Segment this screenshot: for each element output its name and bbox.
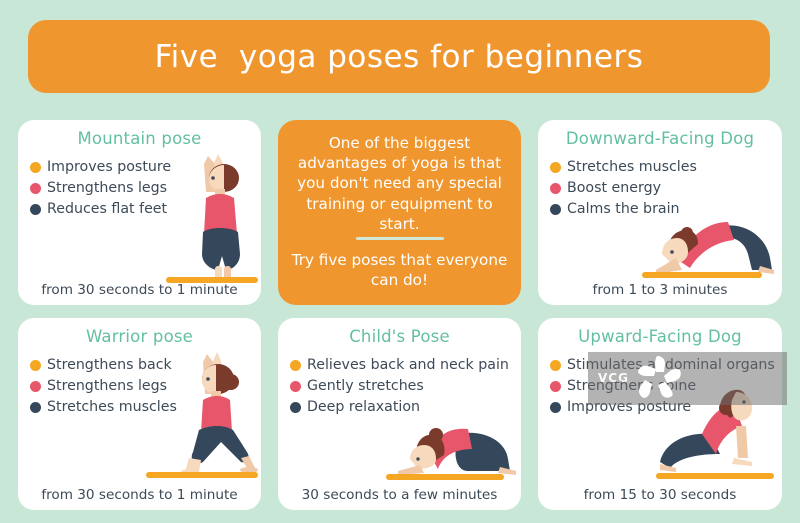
benefit-label: Strengthens legs [47, 181, 167, 196]
bullet-dot-icon [550, 402, 561, 413]
childs-pose-illustration [396, 423, 521, 479]
pose-card-mountain-pose: Mountain pose Improves post [18, 120, 261, 305]
downward-facing-dog-illustration [648, 214, 778, 278]
benefit-label: Calms the brain [567, 202, 680, 217]
watermark-flower-icon [636, 354, 682, 400]
benefit-label: Deep relaxation [307, 400, 420, 415]
benefit-label: Strengthens back [47, 358, 172, 373]
pose-duration: from 1 to 3 minutes [538, 282, 782, 298]
benefit-item: Gently stretches [290, 379, 509, 394]
page-title: Five yoga poses for beginners [155, 39, 644, 75]
benefit-label: Relieves back and neck pain [307, 358, 509, 373]
highlight-quote: One of the biggest advantages of yoga is… [288, 133, 511, 234]
pose-title: Child's Pose [278, 327, 521, 346]
bullet-dot-icon [550, 204, 561, 215]
benefit-label: Strengthens legs [47, 379, 167, 394]
bullet-dot-icon [550, 381, 561, 392]
benefit-list: Improves posture Strengthens legs Reduce… [30, 160, 171, 223]
pose-duration: from 30 seconds to 1 minute [18, 282, 261, 298]
pose-title: Downward-Facing Dog [538, 129, 782, 148]
yoga-mat [642, 272, 762, 278]
bullet-dot-icon [550, 183, 561, 194]
pose-title: Upward-Facing Dog [538, 327, 782, 346]
header-banner: Five yoga poses for beginners [28, 20, 770, 93]
benefit-label: Improves posture [47, 160, 171, 175]
watermark-overlay: VCG [588, 352, 787, 405]
benefit-item: Boost energy [550, 181, 697, 196]
watermark-label: VCG [598, 371, 629, 385]
bullet-dot-icon [30, 204, 41, 215]
benefit-item: Strengthens legs [30, 181, 171, 196]
infographic-canvas: Five yoga poses for beginners Mountain p… [0, 0, 800, 523]
bullet-dot-icon [290, 402, 301, 413]
yoga-mat [146, 472, 258, 478]
benefit-item: Deep relaxation [290, 400, 509, 415]
bullet-dot-icon [30, 381, 41, 392]
benefit-list: Relieves back and neck pain Gently stret… [290, 358, 509, 421]
mountain-pose-illustration [168, 148, 260, 284]
bullet-dot-icon [30, 183, 41, 194]
benefit-list: Strengthens back Strengthens legs Stretc… [30, 358, 177, 421]
bullet-dot-icon [30, 402, 41, 413]
benefit-label: Stretches muscles [567, 160, 697, 175]
pose-card-warrior-pose: Warrior pose [18, 318, 261, 510]
pose-card-childs-pose: Child's Pose Relieves back and neck pain [278, 318, 521, 510]
bullet-dot-icon [550, 360, 561, 371]
highlight-cta: Try five poses that everyone can do! [288, 250, 511, 290]
benefit-item: Improves posture [30, 160, 171, 175]
bullet-dot-icon [290, 381, 301, 392]
pose-title: Warrior pose [18, 327, 261, 346]
benefit-item: Strengthens back [30, 358, 177, 373]
pose-card-downward-facing-dog: Downward-Facing Dog Stretches muscles [538, 120, 782, 305]
pose-card-upward-facing-dog: Upward-Facing Dog Stimulates abdominal o… [538, 318, 782, 510]
benefit-label: Stretches muscles [47, 400, 177, 415]
bullet-dot-icon [30, 360, 41, 371]
pose-title: Mountain pose [18, 129, 261, 148]
benefit-label: Boost energy [567, 181, 661, 196]
bullet-dot-icon [30, 162, 41, 173]
benefit-item: Strengthens legs [30, 379, 177, 394]
benefit-list: Stretches muscles Boost energy Calms the… [550, 160, 697, 223]
bullet-dot-icon [550, 162, 561, 173]
benefit-item: Stretches muscles [30, 400, 177, 415]
pose-duration: 30 seconds to a few minutes [278, 487, 521, 503]
benefit-label: Gently stretches [307, 379, 424, 394]
warrior-pose-illustration [163, 348, 261, 478]
bullet-dot-icon [290, 360, 301, 371]
benefit-item: Stretches muscles [550, 160, 697, 175]
pose-duration: from 15 to 30 seconds [538, 487, 782, 503]
benefit-label: Reduces flat feet [47, 202, 167, 217]
yoga-mat [386, 474, 504, 480]
benefit-item: Calms the brain [550, 202, 697, 217]
yoga-mat [656, 473, 774, 479]
divider [356, 237, 444, 240]
pose-duration: from 30 seconds to 1 minute [18, 487, 261, 503]
benefit-item: Relieves back and neck pain [290, 358, 509, 373]
benefit-item: Reduces flat feet [30, 202, 171, 217]
highlight-card: One of the biggest advantages of yoga is… [278, 120, 521, 305]
